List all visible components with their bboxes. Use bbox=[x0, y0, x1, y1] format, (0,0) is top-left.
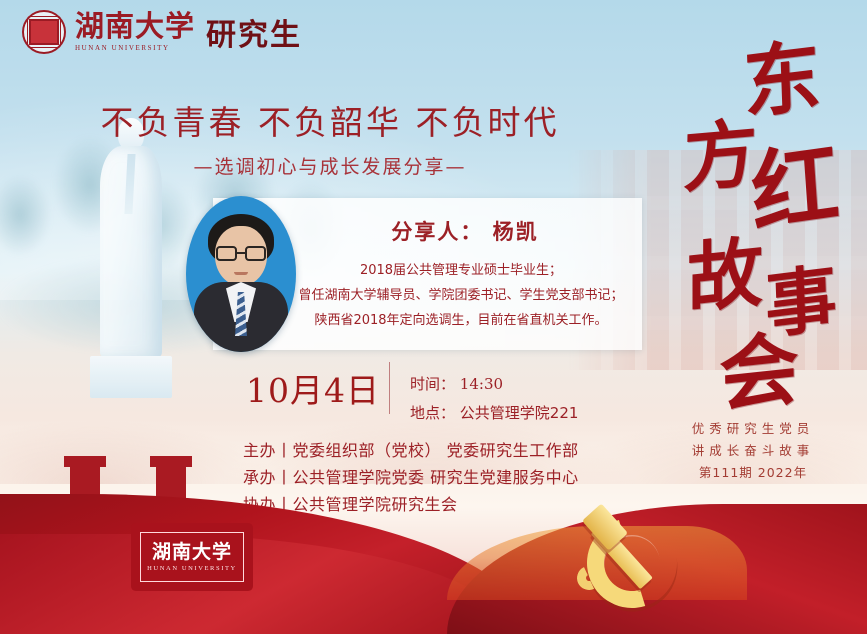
hunan-university-seal-icon bbox=[22, 10, 66, 54]
event-date: 10月4日 bbox=[246, 364, 380, 412]
organizer-line-1: 主办丨党委组织部（党校） 党委研究生工作部 bbox=[243, 437, 579, 464]
event-place-label: 地点： bbox=[410, 404, 455, 422]
speaker-bio-line-2: 曾任湖南大学辅导员、学院团委书记、学生党支部书记； bbox=[280, 283, 642, 308]
page-title: 不负青春 不负韶华 不负时代 bbox=[0, 96, 660, 144]
event-place-row: 地点： 公共管理学院221 bbox=[410, 399, 578, 428]
tagline-line-1: 优秀研究生党员 bbox=[665, 418, 841, 440]
glasses-icon bbox=[216, 246, 266, 261]
speaker-name: 分享人： 杨凯 bbox=[300, 216, 630, 246]
event-time-value: 14:30 bbox=[460, 375, 503, 393]
calligraphy-char-2: 方 bbox=[682, 117, 757, 198]
organizer-line-2: 承办丨公共管理学院党委 研究生党建服务中心 bbox=[243, 464, 579, 491]
event-place-value: 公共管理学院221 bbox=[460, 404, 579, 422]
calligraphy-char-3: 红 bbox=[748, 138, 841, 238]
avatar-mouth bbox=[234, 272, 248, 275]
poster-root: 湖南大学 HUNAN UNIVERSITY 研究生 不负青春 不负韶华 不负时代… bbox=[0, 0, 867, 634]
tagline: 优秀研究生党员 讲成长奋斗故事 第111期 2022年 bbox=[665, 418, 841, 484]
header-graduate-label: 研究生 bbox=[206, 10, 302, 54]
speaker-bio-line-3: 陕西省2018年定向选调生，目前在省直机关工作。 bbox=[280, 308, 642, 333]
footer-logo-en: HUNAN UNIVERSITY bbox=[147, 565, 237, 572]
header-logo: 湖南大学 HUNAN UNIVERSITY 研究生 bbox=[22, 10, 302, 54]
organizer-list: 主办丨党委组织部（党校） 党委研究生工作部 承办丨公共管理学院党委 研究生党建服… bbox=[243, 437, 579, 518]
tagline-line-2: 讲成长奋斗故事 bbox=[665, 440, 841, 462]
issue-number: 第111期 2022年 bbox=[665, 462, 841, 484]
header-university-zh: 湖南大学 bbox=[75, 12, 195, 41]
footer-logo-frame: 湖南大学 HUNAN UNIVERSITY bbox=[140, 532, 244, 582]
header-university-en: HUNAN UNIVERSITY bbox=[75, 44, 195, 52]
header-university-name: 湖南大学 HUNAN UNIVERSITY bbox=[75, 12, 195, 52]
footer-logo-zh: 湖南大学 bbox=[152, 543, 232, 562]
party-emblem-icon bbox=[571, 508, 717, 626]
footer-university-logo: 湖南大学 HUNAN UNIVERSITY bbox=[134, 526, 250, 588]
statue-pedestal bbox=[90, 356, 172, 398]
page-subtitle: —选调初心与成长发展分享— bbox=[0, 152, 660, 179]
speaker-bio-line-1: 2018届公共管理专业硕士毕业生； bbox=[280, 258, 642, 283]
calligraphy-char-4: 故 bbox=[687, 234, 763, 318]
speaker-bio: 2018届公共管理专业硕士毕业生； 曾任湖南大学辅导员、学院团委书记、学生党支部… bbox=[280, 258, 642, 333]
event-time-row: 时间： 14:30 bbox=[410, 370, 578, 399]
calligraphy-char-6: 会 bbox=[719, 328, 800, 417]
divider bbox=[389, 362, 390, 414]
event-time-label: 时间： bbox=[410, 375, 455, 393]
event-details: 时间： 14:30 地点： 公共管理学院221 bbox=[410, 370, 578, 428]
calligraphy-title: 东 方 红 故 事 会 bbox=[659, 42, 849, 392]
